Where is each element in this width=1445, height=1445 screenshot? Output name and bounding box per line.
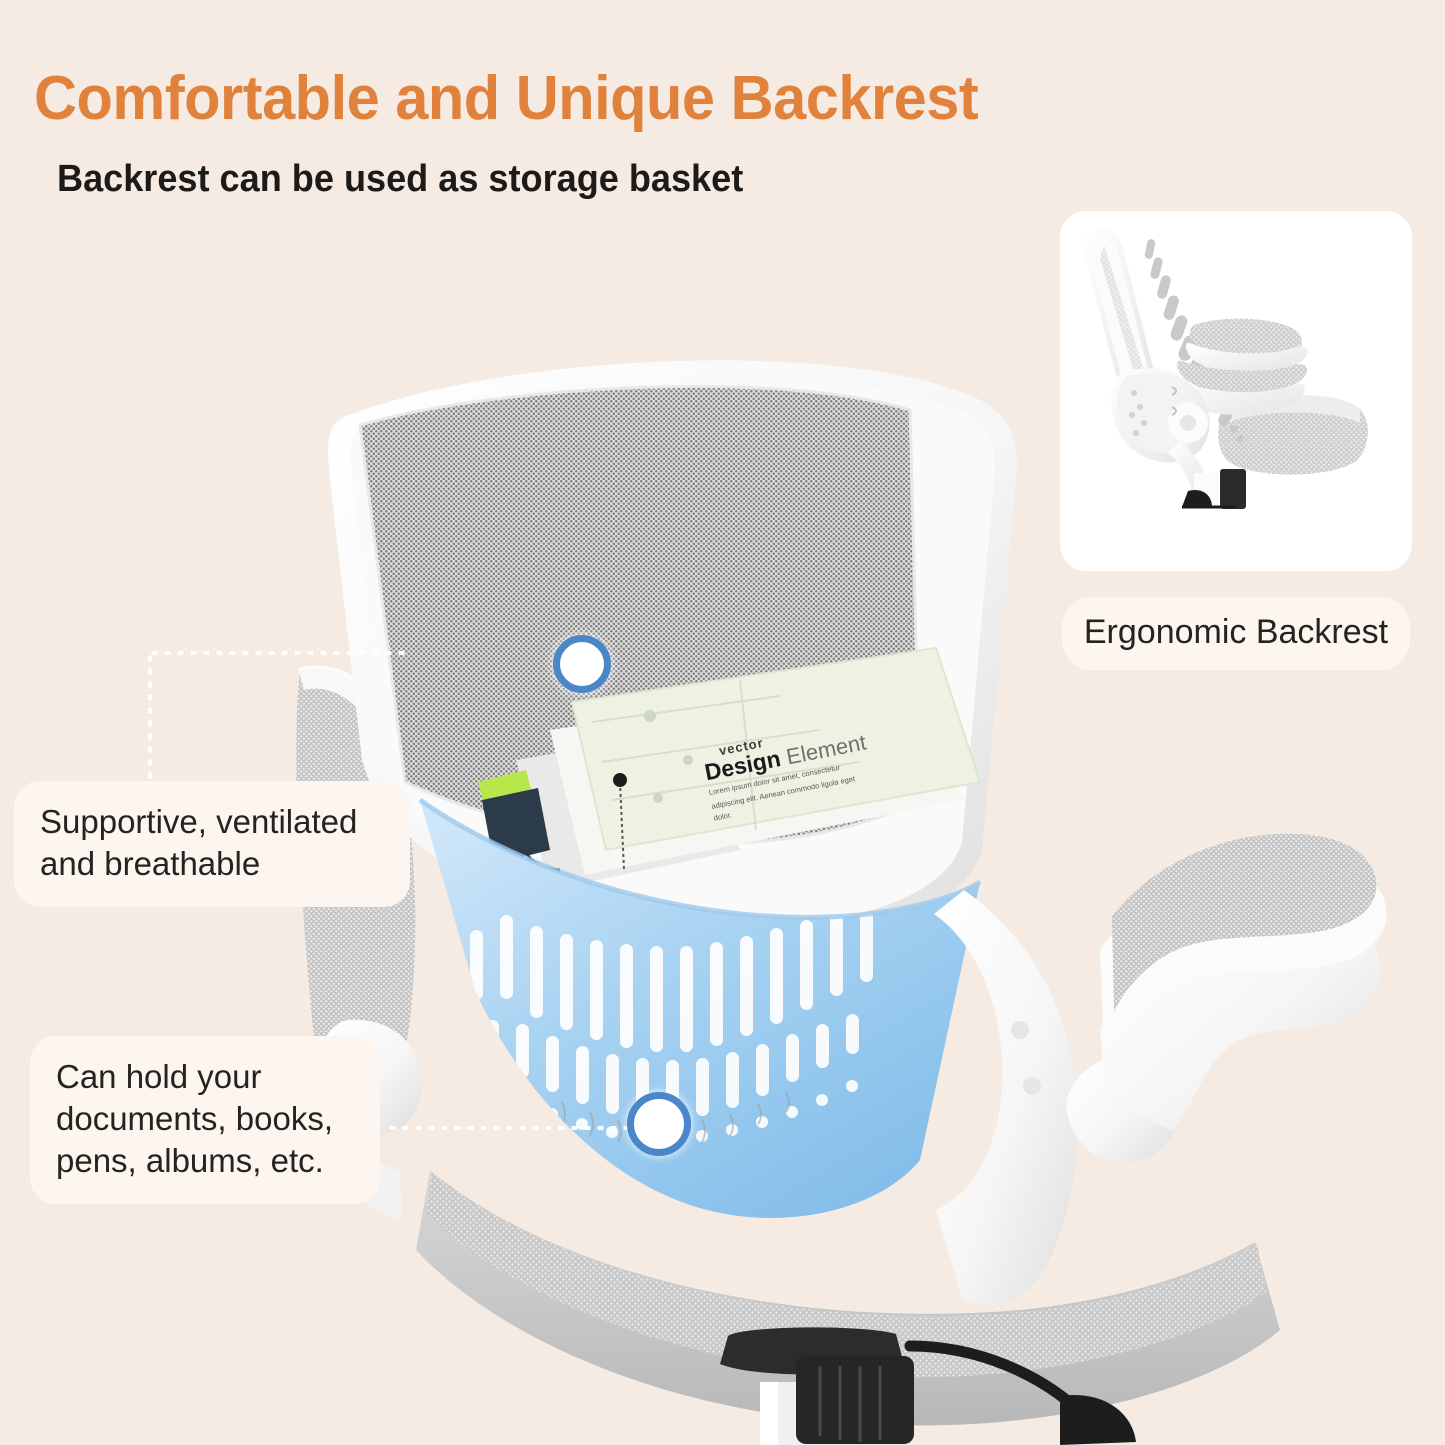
callout-supportive-line-2: and breathable <box>40 843 384 885</box>
hotspot-marker-mesh <box>553 635 611 693</box>
hotspot-marker-basket <box>627 1092 691 1156</box>
page-subtitle: Backrest can be used as storage basket <box>57 158 743 201</box>
callout-supportive-line-1: Supportive, ventilated <box>40 801 384 843</box>
infographic-canvas: Comfortable and Unique Backrest Backrest… <box>0 0 1445 1445</box>
callout-supportive: Supportive, ventilated and breathable <box>14 781 410 907</box>
callout-storage-line-2: documents, books, <box>56 1098 354 1140</box>
side-view-chair-illustration <box>1060 211 1412 571</box>
callout-storage: Can hold your documents, books, pens, al… <box>30 1036 380 1204</box>
connector-line-supportive-horizontal <box>148 651 410 655</box>
connector-line-supportive-vertical <box>148 652 152 792</box>
callout-storage-line-3: pens, albums, etc. <box>56 1140 354 1182</box>
inset-card-label: Ergonomic Backrest <box>1062 597 1410 670</box>
page-title: Comfortable and Unique Backrest <box>34 63 978 134</box>
ergonomic-backrest-inset-card <box>1060 211 1412 571</box>
armrest-right <box>1067 834 1387 1163</box>
connector-line-storage-horizontal <box>386 1126 654 1130</box>
callout-storage-line-1: Can hold your <box>56 1056 354 1098</box>
